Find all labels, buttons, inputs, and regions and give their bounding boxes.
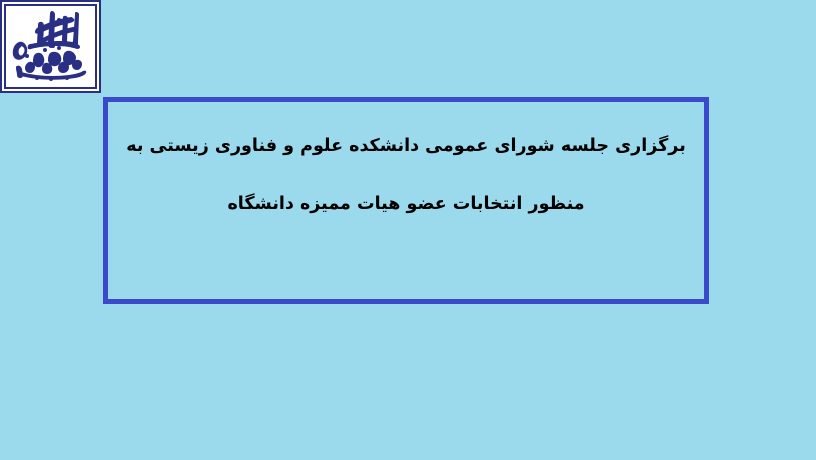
university-logo-frame: دانشگاه شهید بهشتی	[4, 4, 97, 89]
university-logo-calligraphy-icon	[7, 8, 95, 86]
notice-line-2: منظور انتخابات عضو هیات ممیزه دانشگاه	[227, 194, 584, 214]
announcement-page: دانشگاه شهید بهشتی	[0, 0, 816, 460]
notice-box: برگزاری جلسه شورای عمومی دانشکده علوم و …	[103, 97, 709, 304]
notice-line-1: برگزاری جلسه شورای عمومی دانشکده علوم و …	[126, 136, 686, 156]
notice-text-body: برگزاری جلسه شورای عمومی دانشکده علوم و …	[108, 102, 704, 299]
university-logo: دانشگاه شهید بهشتی	[0, 0, 101, 93]
